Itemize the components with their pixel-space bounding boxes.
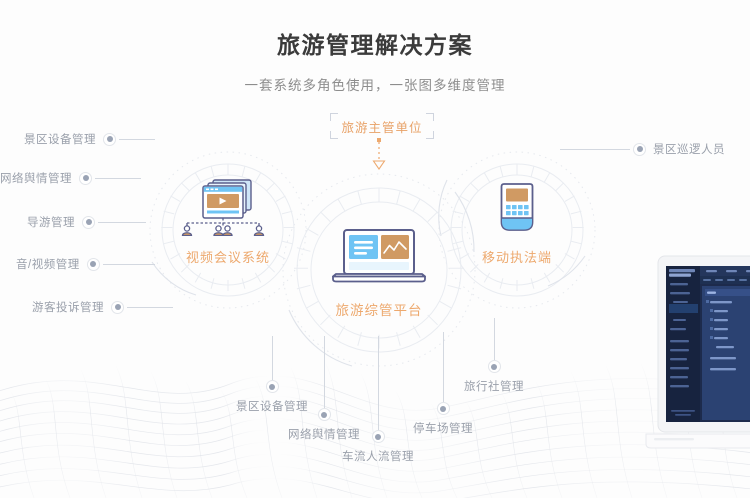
connector-dot [111,301,124,314]
arc-accent-right [439,180,447,236]
connector-label: 停车场管理 [413,420,473,436]
badge-corner-tr [426,113,434,121]
connector-dot [79,172,92,185]
connector-dot [266,380,279,393]
connector-label: 导游管理 [27,214,75,230]
connector-left-2[interactable]: 导游管理 [27,214,146,230]
connector-label: 游客投诉管理 [32,299,104,315]
connector-bottom-4[interactable]: 旅行社管理 [455,318,533,394]
connector-left-0[interactable]: 景区设备管理 [24,131,155,147]
connector-line [324,336,325,408]
node-platform[interactable]: 旅游综管平台 [319,228,439,319]
laptop-dashboard-icon [319,228,439,288]
connector-label: 网络舆情管理 [0,170,72,186]
connector-left-1[interactable]: 网络舆情管理 [0,170,141,186]
badge-label: 旅游主管单位 [341,117,422,136]
connector-label: 旅行社管理 [464,378,524,394]
node-label-platform: 旅游综管平台 [319,299,439,319]
node-label-mobile-enforcement: 移动执法端 [462,247,572,266]
connector-label: 景区巡逻人员 [653,141,725,157]
badge-corner-tl [330,113,338,121]
badge-corner-br [426,131,434,139]
connector-dot [82,216,95,229]
connector-dot [87,258,100,271]
connector-dot [633,143,646,156]
connector-left-4[interactable]: 游客投诉管理 [32,299,173,315]
connector-line [98,222,146,223]
connector-line [127,307,173,308]
connector-label: 景区设备管理 [24,131,96,147]
connector-dot [103,133,116,146]
solution-diagram-page: 旅游管理解决方案 一套系统多角色使用，一张图多维度管理 [0,0,750,498]
authority-badge[interactable]: 旅游主管单位 [330,113,434,139]
page-title: 旅游管理解决方案 [0,26,750,60]
connector-line [378,336,379,430]
node-video-conference[interactable]: 视频会议系统 [163,178,293,266]
connector-line [103,264,155,265]
connector-dot [372,430,385,443]
connector-line [494,318,495,360]
connector-label: 车流人流管理 [342,448,414,464]
connector-line [272,336,273,380]
badge-arrow-head-icon [374,161,385,169]
page-subtitle: 一套系统多角色使用，一张图多维度管理 [0,74,750,94]
connector-left-3[interactable]: 音/视频管理 [16,256,155,272]
connector-line [560,149,630,150]
connector-line [443,332,444,402]
connector-label: 音/视频管理 [16,256,80,272]
arc-accent-left [152,262,196,295]
connector-dot [318,408,331,421]
handheld-terminal-icon [462,182,572,236]
page-header: 旅游管理解决方案 一套系统多角色使用，一张图多维度管理 [0,0,750,94]
connector-line [95,178,141,179]
laptop-dashboard-preview [640,252,750,482]
video-window-icon [163,178,293,236]
node-mobile-enforcement[interactable]: 移动执法端 [462,182,572,266]
connector-line [119,139,155,140]
connector-right-0[interactable]: 景区巡逻人员 [560,141,725,157]
badge-corner-bl [330,131,338,139]
connector-dot [437,402,450,415]
connector-dot [488,360,501,373]
node-label-video-conference: 视频会议系统 [163,247,293,266]
